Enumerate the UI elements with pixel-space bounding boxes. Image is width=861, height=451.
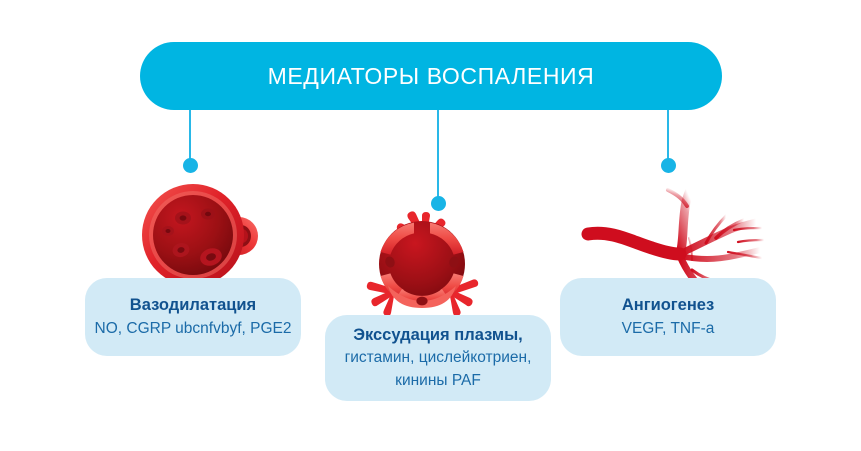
diagram-canvas: МЕДИАТОРЫ ВОСПАЛЕНИЯ <box>0 0 861 451</box>
label-title-vasodilatation: Вазодилатация <box>130 294 256 318</box>
connector-dot-vasodilatation <box>183 158 198 173</box>
label-subtitle-angiogenesis: VEGF, TNF-a <box>622 318 715 340</box>
label-subtitle-plasma-exudation-line-1: гистамин, цислейкотриен, <box>345 347 532 369</box>
label-box-vasodilatation: Вазодилатация NO, CGRP ubcnfvbyf, PGE2 <box>85 278 301 356</box>
label-box-angiogenesis: Ангиогенез VEGF, TNF-a <box>560 278 776 356</box>
leaky-vessel-exudation-icon <box>352 200 492 328</box>
label-title-angiogenesis: Ангиогенез <box>622 294 714 318</box>
label-subtitle-vasodilatation: NO, CGRP ubcnfvbyf, PGE2 <box>95 318 292 340</box>
label-subtitle-plasma-exudation-line-2: кинины PAF <box>395 370 481 392</box>
connector-line-plasma-exudation <box>437 110 439 204</box>
page-title: МЕДИАТОРЫ ВОСПАЛЕНИЯ <box>268 63 595 90</box>
label-box-plasma-exudation: Экссудация плазмы, гистамин, цислейкотри… <box>325 315 551 401</box>
connector-dot-angiogenesis <box>661 158 676 173</box>
label-title-plasma-exudation: Экссудация плазмы, <box>353 324 523 348</box>
header-banner: МЕДИАТОРЫ ВОСПАЛЕНИЯ <box>140 42 722 110</box>
